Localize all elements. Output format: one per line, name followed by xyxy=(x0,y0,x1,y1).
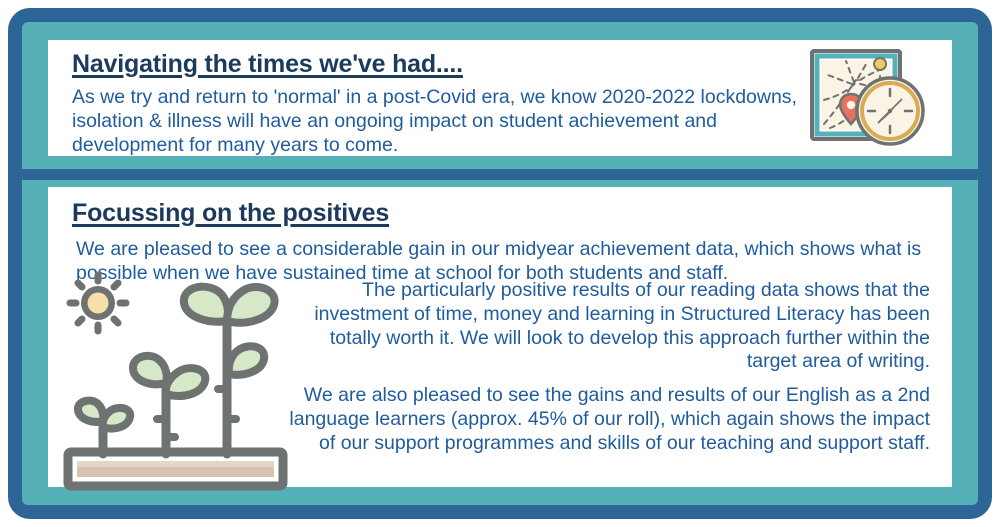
compass-icon xyxy=(857,78,923,144)
outer-frame: Navigating the times we've had.... As we… xyxy=(8,8,992,519)
panel-focussing: Focussing on the positives We are please… xyxy=(48,187,952,487)
growing-plants-icon xyxy=(58,269,298,494)
panel-focussing-heading: Focussing on the positives xyxy=(72,199,952,228)
plant-medium xyxy=(133,356,205,454)
panel-navigating-paragraph-1: As we try and return to 'normal' in a po… xyxy=(72,86,802,157)
plant-small xyxy=(78,401,130,454)
map-compass-icon xyxy=(794,46,934,152)
panel-focussing-paragraph-3: We are also pleased to see the gains and… xyxy=(288,384,930,455)
panel-focussing-paragraph-2: The particularly positive results of our… xyxy=(288,279,930,374)
panel-divider xyxy=(22,169,978,180)
sun-icon xyxy=(70,275,126,331)
teal-inner-sheet: Navigating the times we've had.... As we… xyxy=(22,22,978,505)
panel-navigating: Navigating the times we've had.... As we… xyxy=(48,40,952,156)
